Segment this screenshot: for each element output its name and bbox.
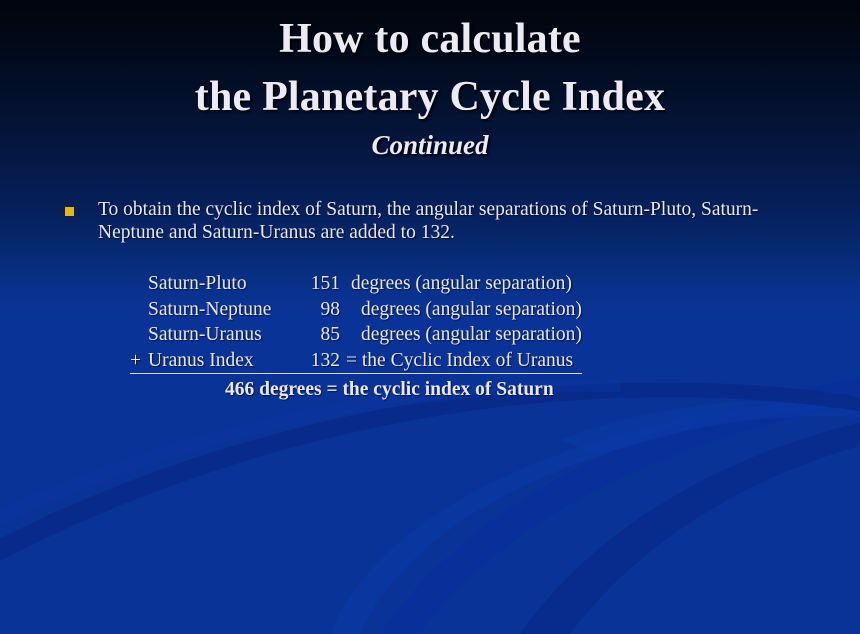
row-value: 98 — [298, 297, 340, 323]
calculation-block: Saturn-Pluto 151 degrees (angular separa… — [130, 271, 630, 403]
calculation-row-saturn-neptune: Saturn-Neptune 98 degrees (angular separ… — [130, 297, 630, 323]
row-value: 151 — [298, 271, 340, 297]
page-title-line-2: the Planetary Cycle Index — [0, 68, 860, 126]
row-label: Uranus Index — [148, 348, 298, 374]
row-description: degrees (angular separation) — [340, 271, 630, 297]
row-description: degrees (angular separation) — [340, 322, 630, 348]
page-title-line-1: How to calculate — [0, 10, 860, 68]
row-label: Saturn-Neptune — [148, 297, 298, 323]
row-label: Saturn-Uranus — [148, 322, 298, 348]
row-value: 85 — [298, 322, 340, 348]
slide-canvas: How to calculate the Planetary Cycle Ind… — [0, 0, 860, 634]
slide-title-block: How to calculate the Planetary Cycle Ind… — [0, 10, 860, 163]
row-operator: + — [130, 348, 148, 374]
row-value: 132 — [298, 348, 340, 374]
calculation-row-saturn-uranus: Saturn-Uranus 85 degrees (angular separa… — [130, 322, 630, 348]
bullet-list-item: To obtain the cyclic index of Saturn, th… — [64, 198, 820, 244]
page-subtitle: Continued — [0, 127, 860, 163]
row-description: = the Cyclic Index of Uranus — [340, 348, 582, 374]
row-label: Saturn-Pluto — [148, 271, 298, 297]
square-bullet-icon — [64, 206, 75, 217]
bullet-item-text: To obtain the cyclic index of Saturn, th… — [98, 198, 813, 244]
calculation-total: 466 degrees = the cyclic index of Saturn — [130, 377, 630, 403]
calculation-row-saturn-pluto: Saturn-Pluto 151 degrees (angular separa… — [130, 271, 630, 297]
calculation-row-uranus-index: + Uranus Index 132 = the Cyclic Index of… — [130, 348, 582, 374]
row-description: degrees (angular separation) — [340, 297, 630, 323]
